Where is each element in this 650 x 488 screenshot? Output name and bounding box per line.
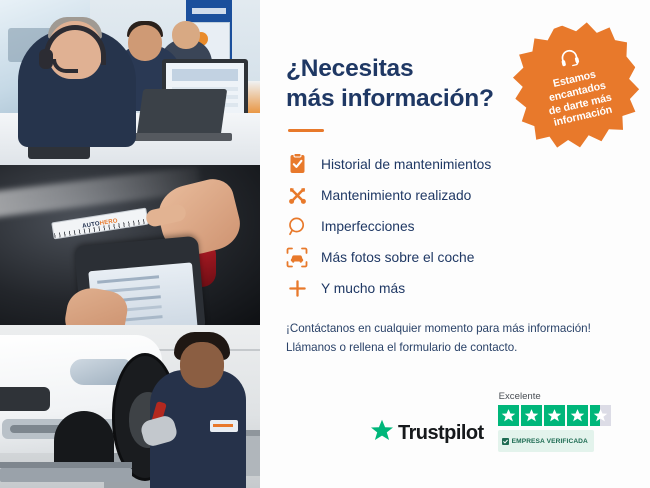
contact-line-2: Llámanos o rellena el formulario de cont… [286, 341, 517, 354]
tools-cross-icon [286, 184, 308, 206]
laptop-screen [137, 89, 227, 135]
trustpilot-rating: Excelente [498, 391, 611, 452]
plus-icon [286, 277, 308, 299]
contact-line-1: ¡Contáctanos en cualquier momento para m… [286, 322, 591, 335]
contact-paragraph: ¡Contáctanos en cualquier momento para m… [286, 319, 626, 357]
magnifier-icon [286, 215, 308, 237]
trustpilot-widget[interactable]: Trustpilot Excelente [370, 391, 611, 452]
car-inspection-ruler-photo: AUTOHERO [0, 165, 260, 325]
clipboard-check-icon [286, 153, 308, 175]
star-filled-1 [498, 405, 519, 426]
trustpilot-star-icon [370, 419, 394, 447]
feature-label: Imperfecciones [321, 219, 415, 234]
information-banner: AUTOHERO [0, 0, 650, 488]
page-title-line-1: ¿Necesitas [286, 55, 413, 82]
star-filled-4 [567, 405, 588, 426]
mechanic-uniform-logo [210, 420, 238, 432]
feature-item-imperfections: Imperfecciones [286, 211, 626, 242]
content-panel: ¿Necesitas más información? Historial de… [260, 0, 650, 488]
page-title: ¿Necesitas más información? [286, 54, 501, 114]
headset-earcup [39, 49, 53, 69]
car-grille [0, 387, 50, 411]
car-lift-arm [0, 468, 132, 482]
verified-company-label: EMPRESA VERIFICADA [512, 438, 588, 445]
feature-label: Mantenimiento realizado [321, 188, 471, 203]
feature-item-much-more: Y mucho más [286, 273, 626, 304]
star-half-5 [590, 405, 611, 426]
background-agent-one-head [128, 25, 162, 61]
feature-list: Historial de mantenimientos M [286, 149, 626, 304]
feature-item-maintenance-history: Historial de mantenimientos [286, 149, 626, 180]
star-filled-2 [521, 405, 542, 426]
car-scan-icon [286, 246, 308, 268]
trustpilot-wordmark: Trustpilot [398, 422, 484, 445]
mechanic-head [180, 342, 224, 388]
trustpilot-stars [498, 405, 611, 426]
feature-item-maintenance-done: Mantenimiento realizado [286, 180, 626, 211]
star-filled-3 [544, 405, 565, 426]
feature-label: Y mucho más [321, 281, 405, 296]
page-title-line-2: más información? [286, 85, 494, 112]
verified-company-badge: EMPRESA VERIFICADA [498, 430, 594, 452]
feature-item-more-photos: Más fotos sobre el coche [286, 242, 626, 273]
laptop-base [128, 133, 232, 141]
call-center-agents-photo [0, 0, 260, 165]
trustpilot-logo[interactable]: Trustpilot [370, 419, 484, 452]
feature-label: Más fotos sobre el coche [321, 250, 474, 265]
background-agent-two-head [172, 21, 200, 49]
photo-collage: AUTOHERO [0, 0, 260, 488]
help-badge: Estamos encantados de darte más informac… [502, 12, 650, 161]
verified-check-icon [502, 432, 509, 450]
mechanic-wheel-inspection-photo [0, 325, 260, 488]
title-underline-rule [288, 129, 324, 132]
trustpilot-rating-label: Excelente [499, 391, 541, 402]
feature-label: Historial de mantenimientos [321, 157, 491, 172]
